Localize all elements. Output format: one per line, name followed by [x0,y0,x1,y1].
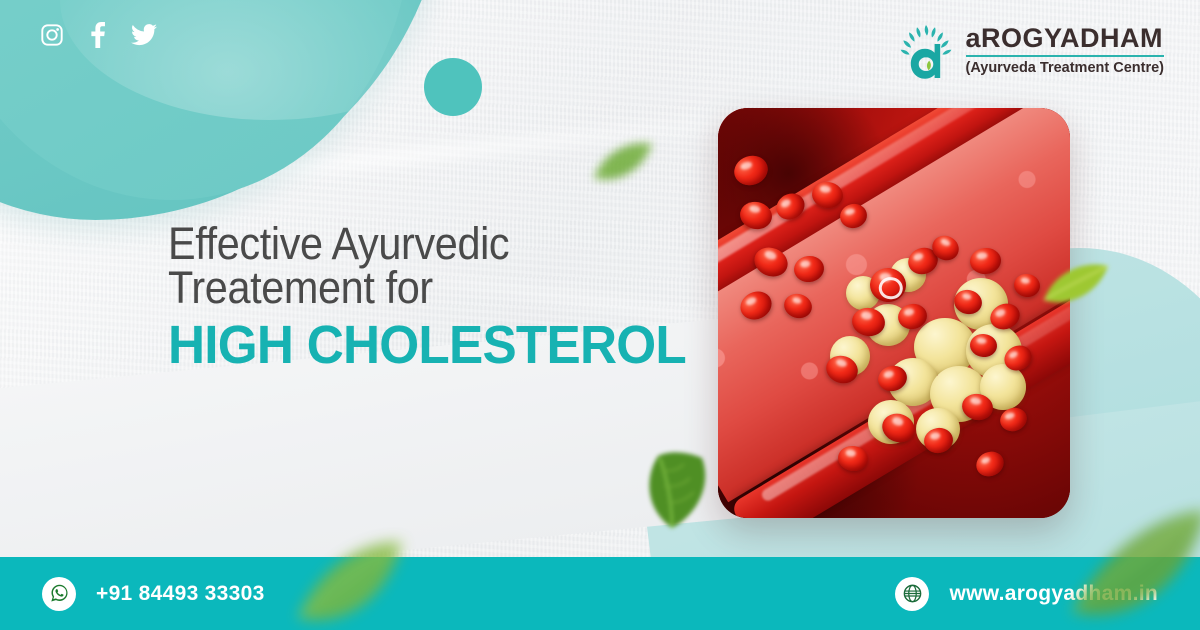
leaf-icon [292,534,410,630]
brand-tagline: (Ayurveda Treatment Centre) [966,61,1165,77]
headline-accent: HIGH CHOLESTEROL [168,318,700,372]
brand-logo[interactable]: aROGYADHAM (Ayurveda Treatment Centre) [898,22,1165,80]
headline-block: Effective Ayurvedic Treatement for HIGH … [168,222,728,372]
brand-name: aROGYADHAM [966,25,1165,52]
teal-circle-decoration [424,58,482,116]
instagram-icon[interactable]: Instagram [40,23,64,47]
logo-text-block: aROGYADHAM (Ayurveda Treatment Centre) [966,25,1165,77]
twitter-icon[interactable]: Twitter [131,24,157,46]
leaf-icon [1040,260,1114,329]
whatsapp-icon [42,577,76,611]
leaf-icon [636,452,732,539]
logo-divider [966,55,1165,57]
globe-icon [895,577,929,611]
hero-image-card [718,108,1070,518]
headline-line-2: Treatement for [168,266,683,310]
leaf-letter-a-icon [898,22,954,80]
headline-line-1: Effective Ayurvedic [168,222,683,266]
leaf-icon [1064,500,1200,630]
banner-canvas: Instagram Facebook Twitter [0,0,1200,630]
phone-number: +91 84493 33303 [96,582,265,606]
leaf-icon [588,138,660,207]
phone-contact[interactable]: +91 84493 33303 [42,577,265,611]
footer-bar: +91 84493 33303 www.arogyadham.in [0,557,1200,630]
facebook-icon[interactable]: Facebook [90,22,105,48]
social-links: Instagram Facebook Twitter [40,22,157,48]
